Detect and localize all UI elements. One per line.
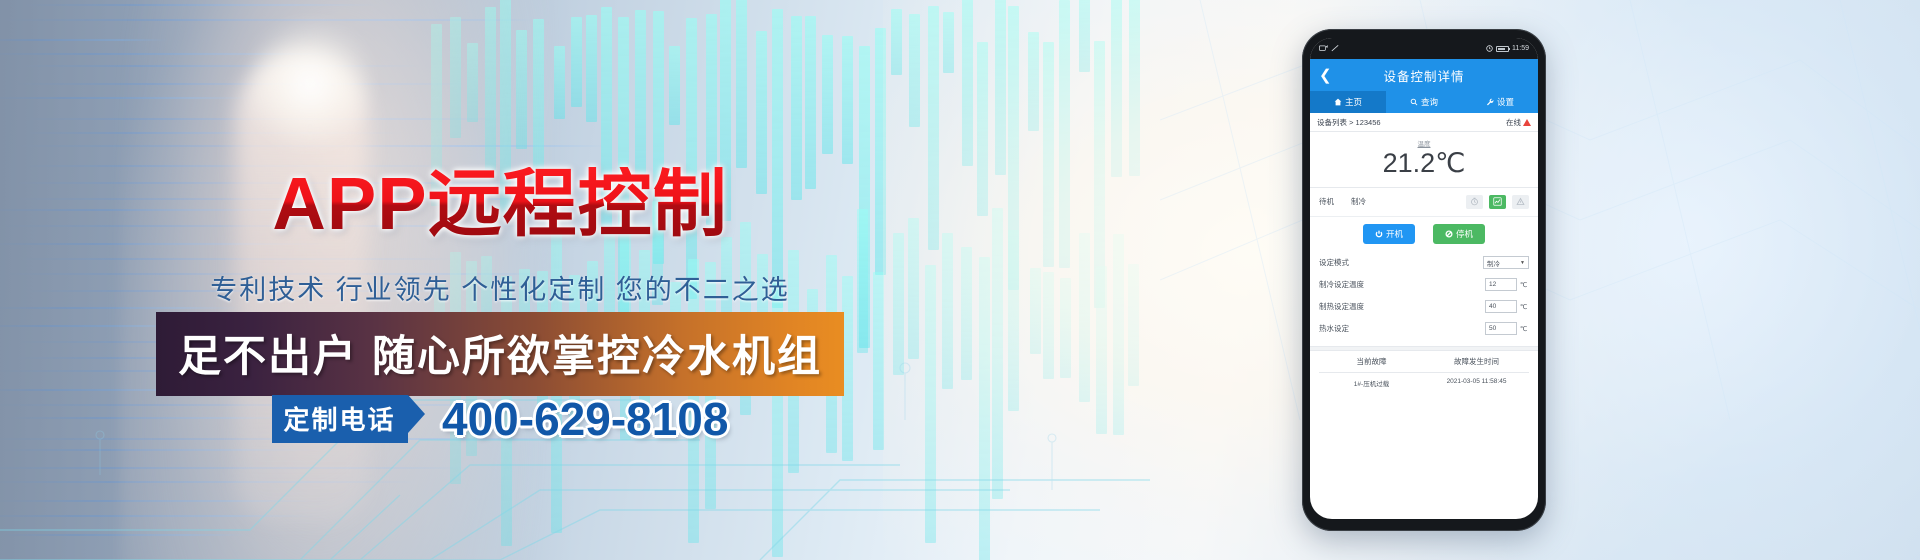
setting-control-mode: 制冷 ▼ (1483, 256, 1529, 269)
tab-home-label: 主页 (1345, 96, 1362, 108)
tel-label-tag: 定制电话 (272, 395, 408, 443)
hero-banner-wrap: 足不出户 随心所欲掌控冷水机组 (0, 312, 1000, 396)
phone-tab-bar: 主页 查询 设置 (1310, 91, 1538, 113)
message-icon (1319, 45, 1328, 52)
status-badge: 在线 (1506, 117, 1531, 128)
hero-title: APP远程控制 (0, 167, 1000, 241)
setting-row-mode: 设定模式 制冷 ▼ (1319, 252, 1529, 274)
table-row[interactable]: 1#-压机过载 2021-03-05 11:58:45 (1319, 373, 1529, 393)
status-time: 11:59 (1512, 45, 1529, 52)
tab-home[interactable]: 主页 (1310, 91, 1386, 113)
phone-nav-bar: ❮ 设备控制详情 (1310, 59, 1538, 91)
settings-form: 设定模式 制冷 ▼ 制冷设定温度 12 ℃ (1310, 252, 1538, 340)
mode-select-value: 制冷 (1487, 258, 1500, 268)
hero-banner: 足不出户 随心所欲掌控冷水机组 (156, 312, 844, 396)
breadcrumb-path[interactable]: 设备列表 > 123456 (1317, 117, 1381, 128)
hot-water-unit: ℃ (1520, 325, 1529, 333)
fault-col-name: 当前故障 (1319, 356, 1424, 367)
search-icon (1410, 98, 1418, 106)
fault-table-header: 当前故障 故障发生时间 (1319, 351, 1529, 373)
mode-state: 待机 (1319, 196, 1334, 207)
power-off-label: 停机 (1456, 228, 1473, 240)
setting-row-cool-temp: 制冷设定温度 12 ℃ (1319, 274, 1529, 296)
warning-triangle-icon (1523, 119, 1531, 126)
power-on-button[interactable]: 开机 (1363, 224, 1415, 244)
phone-status-bar: 11:59 (1310, 38, 1538, 59)
temperature-label: 温度 (1310, 138, 1538, 148)
tab-settings[interactable]: 设置 (1462, 91, 1538, 113)
setting-label-cool-temp: 制冷设定温度 (1319, 279, 1364, 290)
tab-settings-label: 设置 (1497, 96, 1514, 108)
phone-mockup: 11:59 ❮ 设备控制详情 主页 查询 设置 (1302, 29, 1546, 531)
battery-icon (1496, 46, 1509, 52)
power-icon (1375, 230, 1383, 238)
power-off-button[interactable]: 停机 (1433, 224, 1485, 244)
temperature-value: 21.2℃ (1310, 148, 1538, 180)
fault-table: 当前故障 故障发生时间 1#-压机过载 2021-03-05 11:58:45 (1310, 351, 1538, 393)
fault-col-time: 故障发生时间 (1424, 356, 1529, 367)
mode-value: 制冷 (1351, 196, 1366, 207)
hero-banner-text: 足不出户 随心所欲掌控冷水机组 (178, 333, 822, 381)
fault-cell-name: 1#-压机过载 (1319, 378, 1424, 388)
setting-label-mode: 设定模式 (1319, 257, 1349, 268)
tel-number[interactable]: 400-629-8108 (442, 392, 728, 446)
tab-query-label: 查询 (1421, 96, 1438, 108)
fault-cell-time: 2021-03-05 11:58:45 (1424, 378, 1529, 388)
tab-query[interactable]: 查询 (1386, 91, 1462, 113)
stop-icon (1445, 230, 1453, 238)
action-button-row: 开机 停机 (1310, 217, 1538, 252)
temperature-block: 温度 21.2℃ (1310, 132, 1538, 188)
hero-contact-row: 定制电话 400-629-8108 (0, 392, 1000, 446)
home-icon (1334, 98, 1342, 106)
status-right-icons: 11:59 (1486, 45, 1529, 52)
mode-select[interactable]: 制冷 ▼ (1483, 256, 1529, 269)
wrench-icon (1486, 98, 1494, 106)
hero-content: APP远程控制 APP远程控制 专利技术 行业领先 个性化定制 您的不二之选 足… (0, 0, 1060, 560)
setting-control-heat-temp: 40 ℃ (1485, 300, 1529, 313)
phone-nav-title: 设备控制详情 (1310, 66, 1538, 85)
signal-icon (1331, 45, 1339, 52)
chevron-left-icon[interactable]: ❮ (1319, 68, 1332, 83)
timer-icon[interactable] (1466, 195, 1483, 209)
setting-row-heat-temp: 制热设定温度 40 ℃ (1319, 296, 1529, 318)
hot-water-input[interactable]: 50 (1485, 322, 1517, 335)
status-left-icons (1319, 45, 1339, 52)
banner-stage: APP远程控制 APP远程控制 专利技术 行业领先 个性化定制 您的不二之选 足… (0, 0, 1920, 560)
setting-row-hot-water: 热水设定 50 ℃ (1319, 318, 1529, 340)
breadcrumb: 设备列表 > 123456 在线 (1310, 113, 1538, 132)
chart-icon[interactable] (1489, 195, 1506, 209)
mode-icon-group (1466, 195, 1529, 209)
heat-temp-unit: ℃ (1520, 303, 1529, 311)
setting-control-cool-temp: 12 ℃ (1485, 278, 1529, 291)
setting-label-hot-water: 热水设定 (1319, 323, 1349, 334)
hero-subtitle: 专利技术 行业领先 个性化定制 您的不二之选 (0, 268, 1000, 307)
cool-temp-input[interactable]: 12 (1485, 278, 1517, 291)
heat-temp-input[interactable]: 40 (1485, 300, 1517, 313)
mode-row: 待机 制冷 (1310, 188, 1538, 217)
alarm-icon (1486, 45, 1493, 52)
cool-temp-unit: ℃ (1520, 281, 1529, 289)
status-badge-label: 在线 (1506, 117, 1521, 128)
phone-screen: 11:59 ❮ 设备控制详情 主页 查询 设置 (1310, 38, 1538, 519)
power-on-label: 开机 (1386, 228, 1403, 240)
chevron-down-icon: ▼ (1520, 260, 1525, 266)
alarm-warning-icon[interactable] (1512, 195, 1529, 209)
setting-control-hot-water: 50 ℃ (1485, 322, 1529, 335)
setting-label-heat-temp: 制热设定温度 (1319, 301, 1364, 312)
